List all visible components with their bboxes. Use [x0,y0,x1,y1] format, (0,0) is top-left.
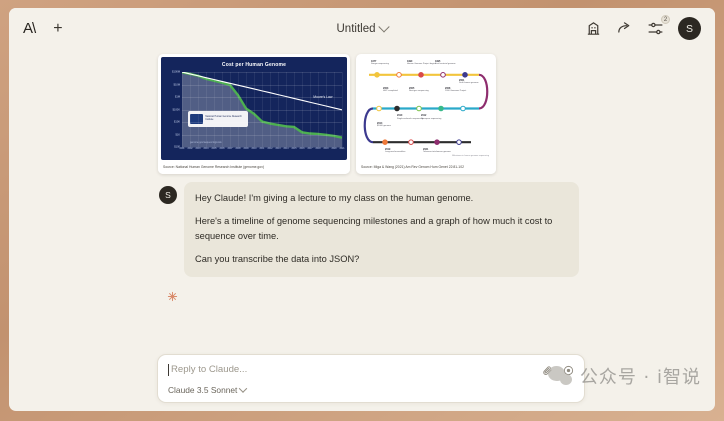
chart-x-tick: 2012 [267,148,272,150]
chart-vgridline [342,72,343,147]
timeline-milestone-text: Long-read assemblies [385,151,405,153]
timeline-path-svg [359,57,493,160]
chart-vgridline [294,72,295,147]
chart-vgridline [318,72,319,147]
timeline-milestone-dot[interactable] [457,140,462,145]
timeline-milestone-text: Draft human genome [459,82,479,84]
chart-x-tick: 2005 [211,148,216,150]
chart-x-tick: 2021 [339,148,344,150]
message-avatar: S [159,186,177,204]
composer-actions [542,364,574,376]
conversation-scroll-area[interactable]: Cost per Human Genome National Human Gen… [9,49,715,354]
timeline-milestone-label: 2005Next-gen sequencing [409,87,429,93]
chart-x-tick: 2013 [275,148,280,150]
chart-x-tick: 2009 [243,148,248,150]
chart-x-tick: 2020 [331,148,336,150]
device-frame: A\ + Untitled [0,0,724,421]
chart-vgridline [182,72,183,147]
timeline-milestone-label: 2001Draft human genome [459,79,479,85]
chevron-down-icon [378,21,389,32]
header-right-group: 2 S [585,17,701,40]
timeline-milestone-dot[interactable] [409,140,414,145]
chart-x-tick: 2004 [203,148,208,150]
cost-per-genome-chart: Cost per Human Genome National Human Gen… [161,57,347,160]
chart-y-tick: $100K [172,108,180,111]
attachment-timeline-body: 1977Sanger sequencing1990Human Genome Pr… [356,54,496,174]
chart-vgridline [310,72,311,147]
chart-x-tick: 2007 [227,148,232,150]
chart-title: Cost per Human Genome [161,62,347,68]
send-icon[interactable] [563,365,574,376]
timeline-milestone-dot[interactable] [419,73,424,78]
attachment-row: Cost per Human Genome National Human Gen… [158,54,715,174]
chevron-down-icon [239,384,247,392]
timeline-milestone-text: 1000 Genomes Project [445,90,466,92]
genome-milestones-timeline: 1977Sanger sequencing1990Human Genome Pr… [359,57,493,160]
app-window: A\ + Untitled [9,8,715,411]
timeline-milestone-dot[interactable] [417,106,422,111]
composer[interactable]: Claude 3.5 Sonnet [157,354,585,403]
reply-input[interactable] [168,364,534,376]
new-chat-button[interactable]: + [51,20,64,38]
library-button[interactable] [585,20,602,37]
timeline-milestone-dot[interactable] [435,140,440,145]
chart-x-tick: 2016 [299,148,304,150]
chart-x-tick: 2006 [219,148,224,150]
anthropic-logo-icon[interactable]: A\ [23,21,35,36]
chart-vgridline [214,72,215,147]
model-selector[interactable]: Claude 3.5 Sonnet [168,385,246,395]
page-title: Untitled [337,23,376,35]
chart-vgridline [254,72,255,147]
chart-vgridline [246,72,247,147]
chart-y-tick: $10K [174,121,180,124]
timeline-milestone-label: 2012Nanopore sequencing [421,114,441,120]
chart-vgridline [270,72,271,147]
timeline-milestone-label: 2010Single-molecule sequencing [397,114,423,120]
chart-x-tick: 2015 [291,148,296,150]
chart-vgridline [238,72,239,147]
settings-button[interactable]: 2 [647,20,664,37]
timeline-segment [479,75,487,109]
timeline-milestone-text: First bacterial genome [435,63,456,65]
chart-vgridline [206,72,207,147]
timeline-milestone-text: Sanger sequencing [371,63,389,65]
chart-y-tick: $10M [174,83,181,86]
attachment-chart-card[interactable]: Cost per Human Genome National Human Gen… [158,54,350,174]
timeline-milestone-text: HGP completed [383,90,398,92]
settings-badge: 2 [661,15,670,24]
attachment-chart-caption: Source: National Human Genome Research I… [158,161,350,174]
timeline-milestone-label: 2021Telomere-to-telomere genome [423,148,451,154]
attachment-timeline-card[interactable]: 1977Sanger sequencing1990Human Genome Pr… [356,54,496,174]
timeline-milestone-label: 20081000 Genomes Project [445,87,466,93]
timeline-segment [365,109,373,143]
message-paragraph: Can you transcribe the data into JSON? [195,252,568,266]
message-paragraph: Here's a timeline of genome sequencing m… [195,214,568,243]
chart-vgridline [278,72,279,147]
timeline-milestone-label: 1990Human Genome Project begins [407,60,436,66]
timeline-milestone-dot[interactable] [439,106,444,111]
timeline-milestone-dot[interactable] [375,73,380,78]
message-paragraph: Hey Claude! I'm giving a lecture to my c… [195,191,568,205]
chart-y-tick: $1M [175,96,180,99]
timeline-legend-note: Milestones in human genome sequencing [452,155,489,157]
chart-x-tick: 2014 [283,148,288,150]
chart-x-tick: 2018 [315,148,320,150]
chart-x-tick: 2019 [323,148,328,150]
timeline-milestone-dot[interactable] [395,106,400,111]
thinking-indicator [167,291,178,302]
chart-x-tick: 2003 [195,148,200,150]
chart-vgridline [302,72,303,147]
chart-plot-area: National Human Genome Research Institute… [182,72,342,147]
timeline-milestone-dot[interactable] [397,73,402,78]
chart-y-tick: $1K [175,133,180,136]
timeline-milestone-text: Next-gen sequencing [409,90,429,92]
timeline-milestone-label: 2003HGP completed [383,87,398,93]
timeline-milestone-text: Single-molecule sequencing [397,118,423,120]
timeline-milestone-dot[interactable] [463,73,468,78]
avatar[interactable]: S [678,17,701,40]
chart-x-tick: 2008 [235,148,240,150]
message-bubble[interactable]: Hey Claude! I'm giving a lecture to my c… [184,182,579,277]
chart-vgridline [286,72,287,147]
chart-vgridline [222,72,223,147]
timeline-milestone-text: Telomere-to-telomere genome [423,151,451,153]
timeline-milestone-label: 1977Sanger sequencing [371,60,389,66]
timeline-milestone-text: $1000 genome [377,125,391,127]
chart-x-tick: 2001 [179,148,184,150]
sparkle-icon [167,291,178,302]
paperclip-icon[interactable] [542,365,553,376]
chart-x-tick: 2017 [307,148,312,150]
chart-vgridline [334,72,335,147]
share-icon [616,20,633,37]
chart-vgridline [198,72,199,147]
composer-input-row [168,364,574,376]
chart-vgridline [326,72,327,147]
document-title-dropdown[interactable]: Untitled [333,21,392,37]
share-button[interactable] [616,20,633,37]
timeline-milestone-dot[interactable] [377,106,382,111]
timeline-milestone-label: 1995First bacterial genome [435,60,456,66]
timeline-milestone-dot[interactable] [461,106,466,111]
chart-logo-text: National Human Genome Research Institute [205,116,246,122]
timeline-milestone-label: 2014$1000 genome [377,122,391,128]
chart-vgridline [190,72,191,147]
attachment-timeline-caption: Source: Miga & Wang (2021) Am Rev Genom … [356,161,496,174]
timeline-milestone-dot[interactable] [441,73,446,78]
model-name: Claude 3.5 Sonnet [168,385,237,395]
chart-vgridline [230,72,231,147]
chart-x-tick: 2010 [251,148,256,150]
chart-x-tick: 2002 [187,148,192,150]
chart-y-tick: $100M [172,71,180,74]
user-message: S Hey Claude! I'm giving a lecture to my… [159,182,579,277]
composer-area: Claude 3.5 Sonnet [9,354,715,411]
header-left-group: A\ + [23,20,65,38]
library-icon [585,20,602,37]
timeline-milestone-label: 2019Long-read assemblies [385,148,405,154]
attachment-chart-body: Cost per Human Genome National Human Gen… [158,54,350,174]
app-header: A\ + Untitled [9,8,715,49]
chart-x-tick: 2011 [260,148,265,150]
timeline-milestone-text: Nanopore sequencing [421,118,441,120]
timeline-milestone-dot[interactable] [383,140,388,145]
timeline-milestone-text: Human Genome Project begins [407,63,436,65]
chart-vgridline [262,72,263,147]
